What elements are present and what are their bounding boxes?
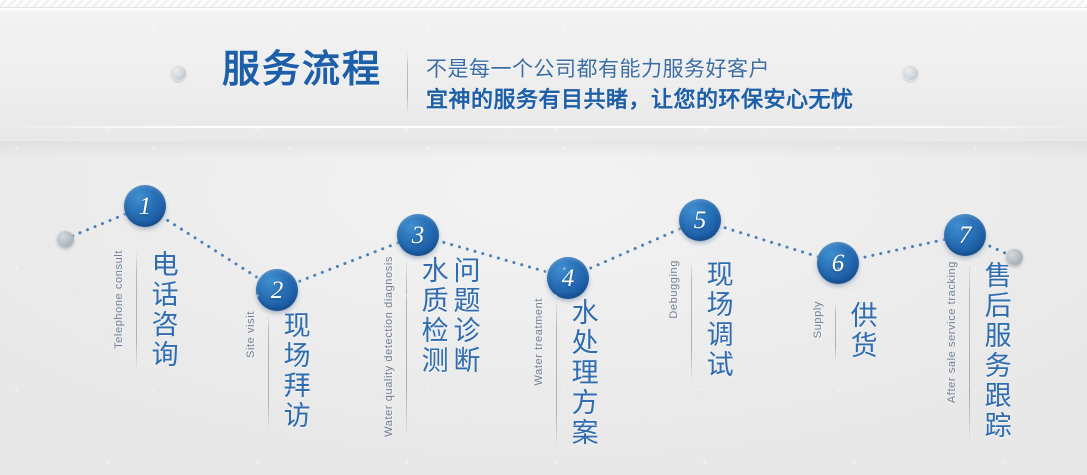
flow-label-3-cn-secondary: 水质检测 [416, 256, 448, 376]
flow-label-3-rule [406, 258, 407, 437]
flow-label-6-rule [835, 303, 836, 361]
flow-label-5-cn-group: 现场调试 [701, 260, 733, 380]
flow-label-1-cn: 电话咨询 [146, 250, 178, 370]
flow-label-6-cn-group: 供货 [845, 301, 877, 361]
flow-label-1: Telephone consult 电话咨询 [113, 250, 178, 370]
service-process-banner: 服务流程 不是每一个公司都有能力服务好客户 宜神的服务有目共睹，让您的环保安心无… [0, 0, 1087, 475]
flow-label-1-en: Telephone consult [113, 250, 127, 349]
flow-label-7-cn: 售后服务跟踪 [979, 261, 1011, 441]
flow-label-4-cn: 水处理方案 [566, 298, 598, 448]
flow-label-2-cn-group: 现场拜访 [278, 311, 310, 431]
flow-label-1-rule [136, 252, 137, 370]
flow-label-2: Site visit 现场拜访 [245, 311, 310, 431]
flow-label-7-rule [969, 263, 970, 443]
flow-label-3: Water quality detection diagnosis 水质检测 问… [383, 256, 479, 437]
flow-node-4[interactable]: 4 [547, 257, 589, 299]
flow-node-1[interactable]: 1 [124, 185, 166, 227]
flow-label-7-en: After sale service tracking [946, 261, 960, 403]
flow-label-6-cn: 供货 [845, 301, 877, 361]
flow-node-5[interactable]: 5 [679, 199, 721, 241]
flow-label-3-cn-group: 水质检测 问题诊断 [416, 256, 480, 376]
flow-label-6-en: Supply [812, 301, 826, 338]
flow-label-2-rule [268, 313, 269, 431]
flow-label-6: Supply 供货 [812, 301, 877, 361]
flow-label-1-cn-group: 电话咨询 [146, 250, 178, 370]
flow-label-5-rule [691, 262, 692, 380]
flow-label-2-cn: 现场拜访 [278, 311, 310, 431]
flow-label-7: After sale service tracking 售后服务跟踪 [946, 261, 1011, 443]
flow-node-3[interactable]: 3 [397, 214, 439, 256]
flow-label-3-cn: 问题诊断 [448, 256, 480, 376]
flow-node-7[interactable]: 7 [944, 214, 986, 256]
flow-label-4: Water treatment 水处理方案 [533, 298, 598, 448]
flow-label-4-cn-group: 水处理方案 [566, 298, 598, 448]
flow-label-4-en: Water treatment [533, 298, 547, 385]
flow-label-2-en: Site visit [245, 311, 259, 358]
flow-node-2[interactable]: 2 [256, 269, 298, 311]
flow-label-5-en: Debugging [668, 260, 682, 319]
path-endcap-left [57, 231, 74, 248]
flow-label-5: Debugging 现场调试 [668, 260, 733, 380]
flow-label-3-en: Water quality detection diagnosis [383, 256, 397, 437]
flow-node-6[interactable]: 6 [817, 242, 859, 284]
flow-label-7-cn-group: 售后服务跟踪 [979, 261, 1011, 441]
flow-label-5-cn: 现场调试 [701, 260, 733, 380]
flow-label-4-rule [556, 300, 557, 448]
